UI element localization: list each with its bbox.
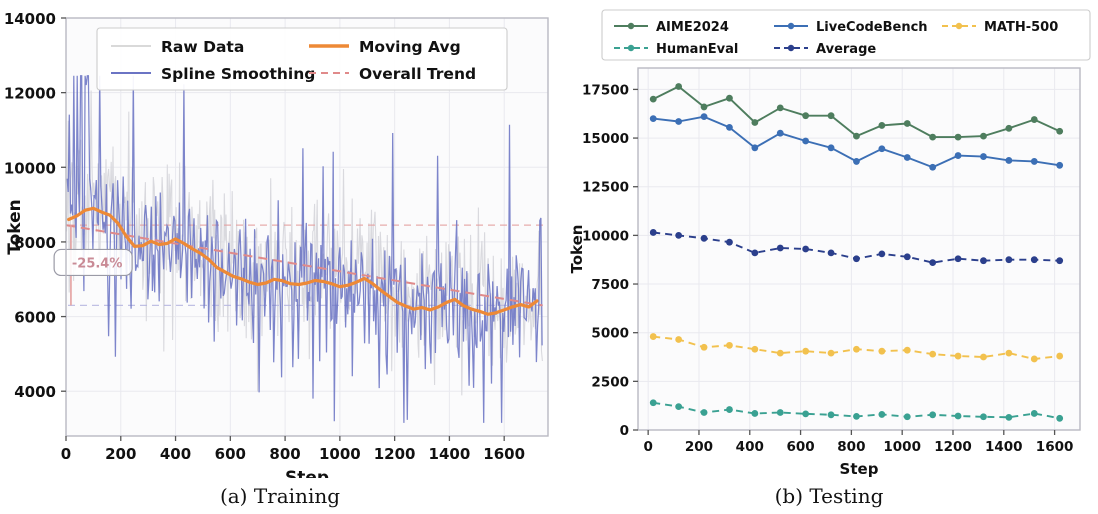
data-point (980, 257, 987, 264)
x-tick-label: 200 (105, 445, 136, 463)
data-point (853, 255, 860, 262)
legend-label: Average (816, 42, 876, 57)
data-point (1056, 128, 1063, 135)
legend-label: Spline Smoothing (161, 65, 315, 83)
panel-testing: 0250050007500100001250015000175000200400… (560, 0, 1098, 514)
x-tick-label: 800 (837, 439, 865, 455)
data-point (904, 253, 911, 260)
data-point (929, 411, 936, 418)
data-point (701, 113, 708, 120)
y-tick-label: 12500 (582, 180, 629, 196)
legend-label: Raw Data (161, 38, 244, 56)
data-point (726, 342, 733, 349)
legend-marker (628, 45, 634, 51)
data-point (1005, 414, 1012, 421)
data-point (955, 134, 962, 141)
x-tick-label: 600 (215, 445, 246, 463)
y-tick-label: 15000 (582, 131, 629, 147)
x-axis-label-a: Step (285, 468, 329, 478)
annotation-label: -25.4% (72, 256, 123, 271)
legend-label: HumanEval (656, 42, 738, 57)
y-tick-label: 17500 (582, 82, 629, 98)
x-tick-label: 200 (685, 439, 713, 455)
data-point (675, 403, 682, 410)
data-point (1056, 162, 1063, 169)
data-point (980, 133, 987, 140)
data-point (1031, 158, 1038, 165)
data-point (980, 153, 987, 160)
legend-label: AIME2024 (656, 20, 729, 35)
data-point (650, 115, 657, 122)
legend-marker (788, 23, 794, 29)
data-point (955, 152, 962, 159)
data-point (751, 119, 758, 126)
x-tick-label: 1400 (985, 439, 1023, 455)
data-point (650, 96, 657, 103)
data-point (802, 112, 809, 119)
data-point (1056, 257, 1063, 264)
legend-label: MATH-500 (984, 20, 1058, 35)
data-point (650, 399, 657, 406)
x-tick-label: 0 (643, 439, 652, 455)
panel-training: -25.4%4000600080001000012000140000200400… (0, 0, 560, 514)
data-point (853, 158, 860, 165)
data-point (777, 409, 784, 416)
data-point (904, 120, 911, 127)
data-point (802, 410, 809, 417)
data-point (828, 112, 835, 119)
x-tick-label: 1000 (883, 439, 921, 455)
y-tick-label: 12000 (4, 85, 56, 103)
data-point (929, 351, 936, 358)
y-tick-label: 5000 (591, 326, 629, 342)
x-tick-label: 400 (160, 445, 191, 463)
x-tick-label: 800 (269, 445, 300, 463)
data-point (980, 413, 987, 420)
data-point (904, 347, 911, 354)
data-point (777, 130, 784, 137)
legend-marker (628, 23, 634, 29)
data-point (1005, 256, 1012, 263)
data-point (878, 348, 885, 355)
x-tick-label: 1600 (483, 445, 525, 463)
data-point (955, 255, 962, 262)
y-tick-label: 14000 (4, 10, 56, 28)
plot-background-b (638, 68, 1080, 430)
data-point (701, 409, 708, 416)
panel-b-caption: (b) Testing (560, 484, 1098, 508)
data-point (650, 333, 657, 340)
data-point (878, 250, 885, 257)
data-point (929, 164, 936, 171)
y-tick-label: 0 (620, 423, 629, 439)
data-point (853, 346, 860, 353)
data-point (904, 413, 911, 420)
x-axis-label-b: Step (840, 460, 879, 478)
data-point (777, 245, 784, 252)
data-point (777, 104, 784, 111)
x-tick-label: 1600 (1036, 439, 1074, 455)
data-point (726, 124, 733, 131)
legend-b: AIME2024LiveCodeBenchMATH-500HumanEvalAv… (602, 10, 1090, 60)
data-point (878, 122, 885, 129)
data-point (828, 249, 835, 256)
data-point (802, 348, 809, 355)
y-tick-label: 2500 (591, 374, 629, 390)
data-point (701, 104, 708, 111)
data-point (853, 133, 860, 140)
data-point (878, 411, 885, 418)
data-point (828, 411, 835, 418)
data-point (878, 145, 885, 152)
legend-marker (788, 45, 794, 51)
data-point (853, 413, 860, 420)
data-point (929, 134, 936, 141)
data-point (1005, 157, 1012, 164)
data-point (1056, 415, 1063, 422)
data-point (675, 232, 682, 239)
y-tick-label: 7500 (591, 277, 629, 293)
data-point (701, 235, 708, 242)
legend-label: Moving Avg (359, 38, 461, 56)
data-point (802, 246, 809, 253)
data-point (1005, 350, 1012, 357)
panel-a-caption: (a) Training (0, 484, 560, 508)
legend-marker (956, 23, 962, 29)
data-point (955, 353, 962, 360)
legend-label: LiveCodeBench (816, 20, 928, 35)
data-point (929, 259, 936, 266)
y-tick-label: 10000 (4, 159, 56, 177)
x-tick-label: 1000 (319, 445, 361, 463)
data-point (751, 144, 758, 151)
data-point (650, 229, 657, 236)
data-point (675, 336, 682, 343)
training-chart: -25.4%4000600080001000012000140000200400… (0, 0, 560, 478)
x-tick-label: 1200 (934, 439, 972, 455)
y-axis-label-b: Token (568, 225, 586, 274)
data-point (726, 406, 733, 413)
y-tick-label: 6000 (14, 309, 56, 327)
data-point (802, 138, 809, 145)
data-point (1031, 256, 1038, 263)
data-point (701, 344, 708, 351)
legend-label: Overall Trend (359, 65, 476, 83)
y-tick-label: 4000 (14, 383, 56, 401)
data-point (1031, 116, 1038, 123)
data-point (980, 354, 987, 361)
data-point (1005, 125, 1012, 132)
data-point (675, 83, 682, 90)
y-tick-label: 10000 (582, 228, 629, 244)
data-point (777, 350, 784, 357)
data-point (1031, 410, 1038, 417)
data-point (751, 249, 758, 256)
data-point (955, 413, 962, 420)
x-tick-label: 1400 (429, 445, 471, 463)
data-point (751, 410, 758, 417)
data-point (1031, 356, 1038, 363)
x-tick-label: 600 (786, 439, 814, 455)
legend-a: Raw DataMoving AvgSpline SmoothingOveral… (97, 28, 507, 90)
figure-container: -25.4%4000600080001000012000140000200400… (0, 0, 1098, 514)
x-tick-label: 1200 (374, 445, 416, 463)
data-point (726, 239, 733, 246)
data-point (828, 144, 835, 151)
data-point (828, 350, 835, 357)
testing-chart: 0250050007500100001250015000175000200400… (560, 0, 1098, 478)
data-point (675, 118, 682, 125)
x-tick-label: 400 (736, 439, 764, 455)
data-point (726, 95, 733, 102)
x-tick-label: 0 (61, 445, 71, 463)
data-point (1056, 353, 1063, 360)
y-axis-label-a: Token (5, 199, 25, 255)
data-point (751, 346, 758, 353)
data-point (904, 154, 911, 161)
